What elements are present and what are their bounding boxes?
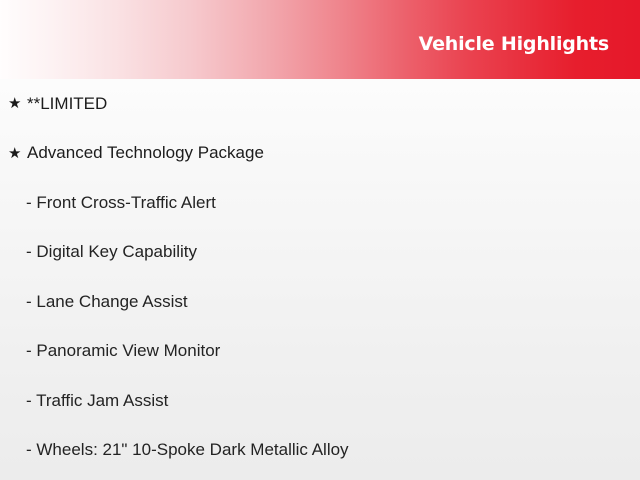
list-item-label: - Traffic Jam Assist: [26, 391, 168, 411]
list-item: - Traffic Jam Assist: [0, 376, 640, 426]
star-bullet-icon: ★: [8, 146, 27, 161]
list-item-label: Advanced Technology Package: [27, 143, 264, 163]
list-item: ★**LIMITED: [0, 79, 640, 129]
page-title: Vehicle Highlights: [419, 33, 609, 55]
vehicle-highlights-page: Vehicle Highlights ★**LIMITED★Advanced T…: [0, 0, 640, 480]
list-item-label: **LIMITED: [27, 94, 107, 114]
list-item-label: - Digital Key Capability: [26, 242, 197, 262]
list-item: - Lane Change Assist: [0, 277, 640, 327]
highlights-list: ★**LIMITED★Advanced Technology Package- …: [0, 79, 640, 475]
list-item: - Front Cross-Traffic Alert: [0, 178, 640, 228]
list-item: ★Advanced Technology Package: [0, 129, 640, 179]
list-item-label: - Lane Change Assist: [26, 292, 188, 312]
list-item: - Digital Key Capability: [0, 228, 640, 278]
star-bullet-icon: ★: [8, 96, 27, 111]
list-item-label: - Wheels: 21" 10-Spoke Dark Metallic All…: [26, 440, 349, 460]
list-item: - Wheels: 21" 10-Spoke Dark Metallic All…: [0, 426, 640, 476]
list-item-label: - Panoramic View Monitor: [26, 341, 220, 361]
list-item: - Panoramic View Monitor: [0, 327, 640, 377]
header-band: Vehicle Highlights: [0, 0, 640, 79]
list-item-label: - Front Cross-Traffic Alert: [26, 193, 216, 213]
